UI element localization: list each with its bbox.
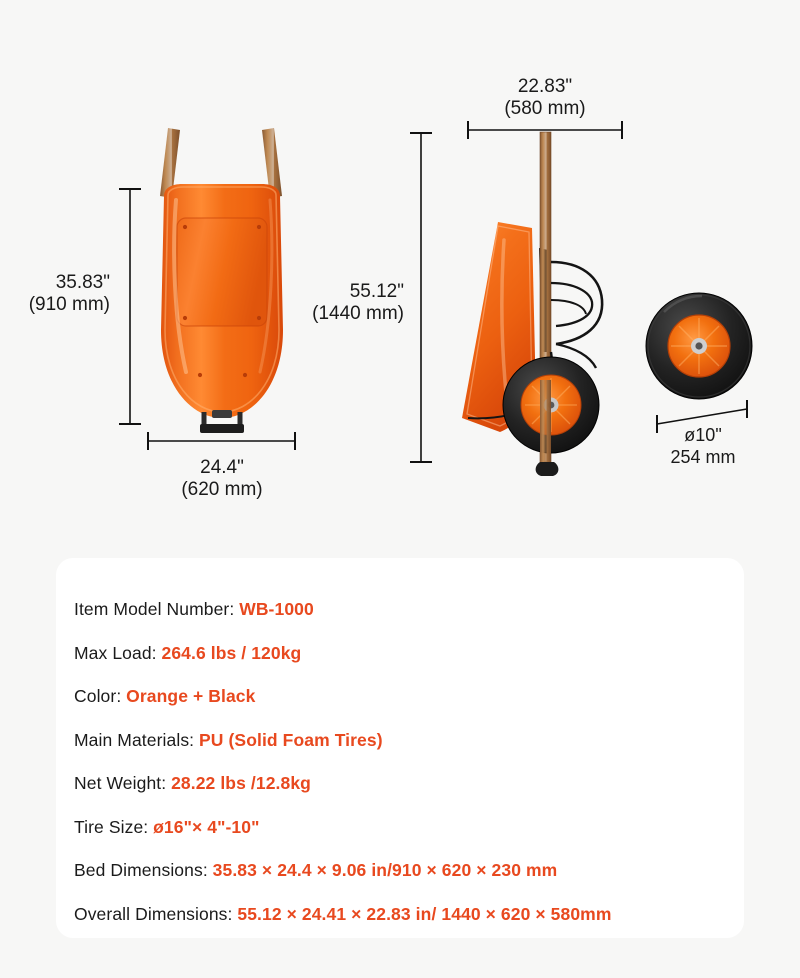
side-view-width-inches: 22.83": [518, 76, 572, 97]
side-view-width-metric: (580 mm): [504, 98, 585, 119]
spec-value-tire-size: ø16"× 4"-10": [153, 817, 259, 837]
top-view-width-inches: 24.4": [200, 457, 244, 478]
spec-label-overall-dimensions: Overall Dimensions:: [74, 904, 232, 924]
top-view-width-metric: (620 mm): [181, 479, 262, 500]
spec-row-max-load: Max Load: 264.6 lbs / 120kg: [56, 632, 744, 676]
top-view-height-dimension: 35.83" (910 mm): [29, 189, 141, 424]
top-view-height-inches: 35.83": [56, 272, 110, 293]
side-view-height-metric: (1440 mm): [312, 303, 404, 324]
wheel-diameter-inches: ø10": [684, 425, 721, 445]
spec-row-overall-dimensions: Overall Dimensions: 55.12 × 24.41 × 22.8…: [56, 893, 744, 937]
specification-card: Item Model Number: WB-1000 Max Load: 264…: [56, 558, 744, 938]
wheel-diameter-dimension: ø10" 254 mm: [657, 400, 747, 467]
spec-value-color: Orange + Black: [126, 686, 255, 706]
spec-label-main-materials: Main Materials:: [74, 730, 194, 750]
top-view-width-dimension: 24.4" (620 mm): [148, 432, 295, 500]
spec-value-bed-dimensions: 35.83 × 24.4 × 9.06 in/910 × 620 × 230 m…: [213, 860, 558, 880]
wheel-detail-graphic: [646, 293, 752, 399]
spec-label-tire-size: Tire Size:: [74, 817, 148, 837]
spec-row-item-model-number: Item Model Number: WB-1000: [56, 588, 744, 632]
dimension-diagram-svg: 35.83" (910 mm) 24.4" (620 mm): [0, 0, 800, 540]
spec-value-main-materials: PU (Solid Foam Tires): [199, 730, 383, 750]
spec-value-max-load: 264.6 lbs / 120kg: [162, 643, 302, 663]
product-diagram-area: 35.83" (910 mm) 24.4" (620 mm): [0, 0, 800, 540]
spec-label-bed-dimensions: Bed Dimensions:: [74, 860, 208, 880]
spec-row-bed-dimensions: Bed Dimensions: 35.83 × 24.4 × 9.06 in/9…: [56, 849, 744, 893]
spec-label-color: Color:: [74, 686, 121, 706]
wheel-diameter-metric: 254 mm: [670, 447, 735, 467]
side-view-height-dimension: 55.12" (1440 mm): [312, 133, 432, 462]
spec-row-net-weight: Net Weight: 28.22 lbs /12.8kg: [56, 762, 744, 806]
side-view-width-dimension: 22.83" (580 mm): [468, 76, 622, 139]
spec-label-item-model-number: Item Model Number:: [74, 599, 234, 619]
spec-value-overall-dimensions: 55.12 × 24.41 × 22.83 in/ 1440 × 620 × 5…: [237, 904, 611, 924]
side-view-height-inches: 55.12": [350, 281, 404, 302]
spec-row-tire-size: Tire Size: ø16"× 4"-10": [56, 806, 744, 850]
spec-row-main-materials: Main Materials: PU (Solid Foam Tires): [56, 719, 744, 763]
spec-label-net-weight: Net Weight:: [74, 773, 166, 793]
wheelbarrow-top-view-graphic: [160, 128, 283, 433]
wheelbarrow-side-view-graphic: [462, 132, 602, 476]
spec-value-net-weight: 28.22 lbs /12.8kg: [171, 773, 311, 793]
spec-label-max-load: Max Load:: [74, 643, 157, 663]
top-view-height-metric: (910 mm): [29, 294, 110, 315]
spec-value-item-model-number: WB-1000: [239, 599, 314, 619]
spec-row-color: Color: Orange + Black: [56, 675, 744, 719]
